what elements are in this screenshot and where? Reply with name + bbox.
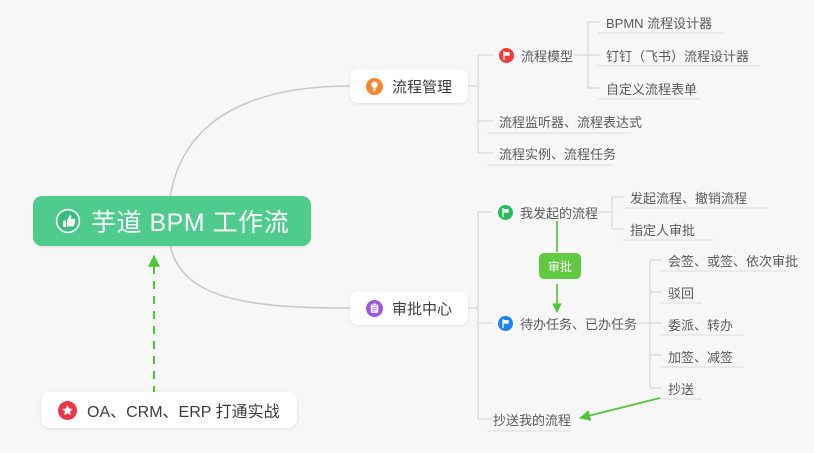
link-root-to-process-management <box>170 86 350 198</box>
branch-label: 流程管理 <box>392 76 452 97</box>
node-process-model[interactable]: 流程模型 <box>493 42 579 68</box>
link-pm-children <box>463 55 478 153</box>
link-root-to-approval-center <box>170 245 350 308</box>
branch-label: 审批中心 <box>392 298 452 319</box>
root-label: 芋道 BPM 工作流 <box>91 203 289 239</box>
node-cc[interactable]: 抄送 <box>662 375 700 401</box>
node-bpmn-designer[interactable]: BPMN 流程设计器 <box>600 9 718 35</box>
arrow-cc-to-ccmy <box>580 398 660 418</box>
node-todo-done-task[interactable]: 待办任务、已办任务 <box>492 310 643 336</box>
node-label: 钉钉（飞书）流程设计器 <box>606 46 749 65</box>
node-instance-task[interactable]: 流程实例、流程任务 <box>493 140 622 166</box>
node-label: 流程监听器、流程表达式 <box>499 112 642 131</box>
node-cc-my-process[interactable]: 抄送我的流程 <box>487 406 577 432</box>
mindmap-canvas: 芋道 BPM 工作流 流程管理 流程模型 BPMN 流程设计器 钉钉（飞书）流程 <box>0 0 814 453</box>
node-start-cancel-process[interactable]: 发起流程、撤销流程 <box>624 184 753 210</box>
node-dingtalk-feishu-designer[interactable]: 钉钉（飞书）流程设计器 <box>600 42 755 68</box>
tag-label: 审批 <box>548 258 572 275</box>
red-flag-icon <box>499 48 514 63</box>
node-custom-process-form[interactable]: 自定义流程表单 <box>600 75 703 101</box>
node-label: 自定义流程表单 <box>606 79 697 98</box>
node-label: 加签、减签 <box>668 347 733 366</box>
thumbs-up-icon <box>55 208 81 234</box>
node-label: 我发起的流程 <box>520 203 598 222</box>
node-countersign[interactable]: 会签、或签、依次审批 <box>662 247 804 273</box>
node-label: 发起流程、撤销流程 <box>630 188 747 207</box>
node-label: BPMN 流程设计器 <box>606 13 712 32</box>
branch-approval-center[interactable]: 审批中心 <box>350 291 468 325</box>
red-star-icon <box>58 401 77 420</box>
branch-process-management[interactable]: 流程管理 <box>350 69 468 103</box>
node-label: 抄送 <box>668 379 694 398</box>
node-label: 抄送我的流程 <box>493 410 571 429</box>
root-node[interactable]: 芋道 BPM 工作流 <box>33 196 311 246</box>
node-label: 流程模型 <box>521 46 573 65</box>
node-label: 驳回 <box>668 283 694 302</box>
node-label: 待办任务、已办任务 <box>520 314 637 333</box>
node-label: 流程实例、流程任务 <box>499 144 616 163</box>
node-label: 会签、或签、依次审批 <box>668 251 798 270</box>
node-my-started-process[interactable]: 我发起的流程 <box>492 199 604 225</box>
node-add-remove-sign[interactable]: 加签、减签 <box>662 343 739 369</box>
node-label: 委派、转办 <box>668 315 733 334</box>
node-listener-expression[interactable]: 流程监听器、流程表达式 <box>493 108 648 134</box>
card-label: OA、CRM、ERP 打通实战 <box>87 398 280 422</box>
clipboard-icon <box>366 300 383 317</box>
node-delegate-transfer[interactable]: 委派、转办 <box>662 311 739 337</box>
green-flag-icon <box>498 205 513 220</box>
tag-approval[interactable]: 审批 <box>539 253 581 279</box>
node-reject[interactable]: 驳回 <box>662 279 700 305</box>
card-integration[interactable]: OA、CRM、ERP 打通实战 <box>41 392 297 428</box>
node-label: 指定人审批 <box>630 220 695 239</box>
node-assignee-approval[interactable]: 指定人审批 <box>624 216 701 242</box>
blue-flag-icon <box>498 316 513 331</box>
lightbulb-icon <box>366 78 383 95</box>
